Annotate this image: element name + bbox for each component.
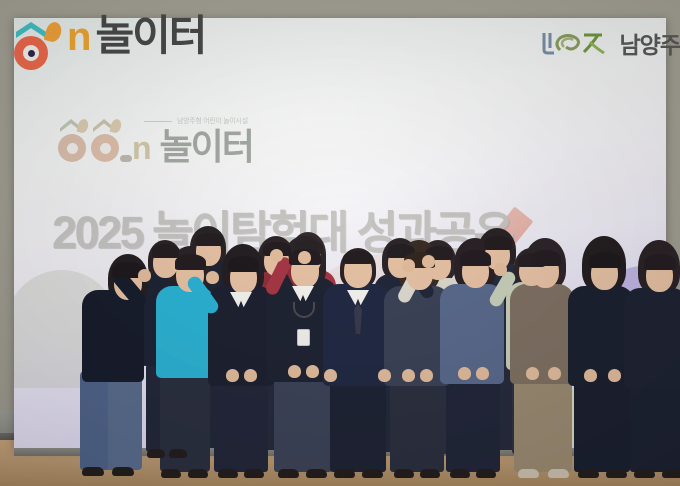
header-logo-word: 놀이터 [95,15,205,57]
group-photo-people [0,0,680,486]
screenshot-root: 남양주형 어린이 놀이시설 [0,0,680,486]
city-name-label: 남양주 [620,26,680,60]
namyangju-city-mark-icon [540,28,612,58]
playground-mark-icon [0,0,62,58]
leaf-icon [44,20,64,43]
namyangju-city-logo: 남양주 [540,26,680,60]
header-playground-logo: n 놀이터 [0,0,205,58]
eye-pupil [28,50,35,57]
header-n-letter: n [67,18,90,56]
eye-inner [23,45,39,61]
eye-ring-icon [14,36,48,70]
